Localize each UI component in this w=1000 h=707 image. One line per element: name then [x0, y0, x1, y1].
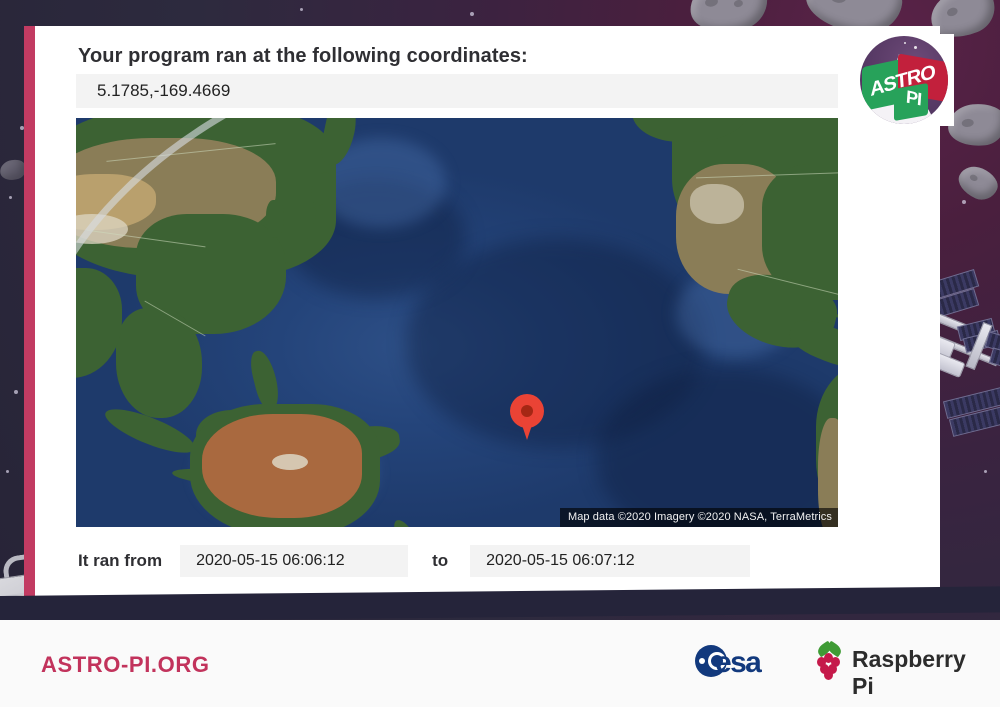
- map-attribution: Map data ©2020 Imagery ©2020 NASA, Terra…: [560, 508, 838, 527]
- star-icon: [6, 470, 9, 473]
- esa-logo-side-dot: [699, 658, 705, 664]
- coordinates-field[interactable]: 5.1785,-169.4669: [76, 74, 838, 108]
- berry-icon: [824, 670, 833, 680]
- coordinates-value: 5.1785,-169.4669: [97, 81, 230, 101]
- run-from-field[interactable]: 2020-05-15 06:06:12: [180, 545, 408, 577]
- esa-logo-text: esa: [715, 646, 760, 680]
- raspberry-pi-text: Raspberry Pi: [852, 646, 972, 700]
- star-icon: [914, 46, 917, 49]
- astro-pi-org-logo[interactable]: ASTRO-PI.ORG: [41, 652, 210, 678]
- astro-pi-badge-text-bottom: PI: [905, 87, 921, 111]
- map-pin-icon[interactable]: [510, 394, 544, 440]
- run-from-value: 2020-05-15 06:06:12: [196, 552, 345, 570]
- raspberry-pi-mark: [812, 644, 846, 678]
- iss-orbit-track: [76, 118, 838, 527]
- raspberry-pi-logo-icon: Raspberry Pi: [812, 642, 972, 680]
- map-pin-tail: [519, 416, 535, 440]
- star-icon: [9, 196, 12, 199]
- page-title: Your program ran at the following coordi…: [78, 45, 528, 68]
- run-to-label: to: [432, 551, 448, 571]
- location-map[interactable]: Google Map data ©2020 Imagery ©2020 NASA…: [76, 118, 838, 527]
- star-icon: [962, 200, 966, 204]
- astro-pi-badge-circle: ASTRO PI: [860, 36, 948, 124]
- run-time-row: It ran from 2020-05-15 06:06:12 to 2020-…: [78, 545, 750, 577]
- card-accent-bar: [24, 26, 35, 596]
- astro-pi-logo-icon: ASTRO PI: [854, 34, 954, 126]
- esa-logo-icon: esa: [695, 644, 791, 678]
- run-to-field[interactable]: 2020-05-15 06:07:12: [470, 545, 750, 577]
- run-from-label: It ran from: [78, 551, 162, 571]
- map-pin-dot: [521, 405, 533, 417]
- star-icon: [14, 390, 18, 394]
- star-icon: [300, 8, 303, 11]
- star-icon: [904, 42, 906, 44]
- star-icon: [470, 12, 474, 16]
- star-icon: [984, 470, 987, 473]
- run-to-value: 2020-05-15 06:07:12: [486, 552, 635, 570]
